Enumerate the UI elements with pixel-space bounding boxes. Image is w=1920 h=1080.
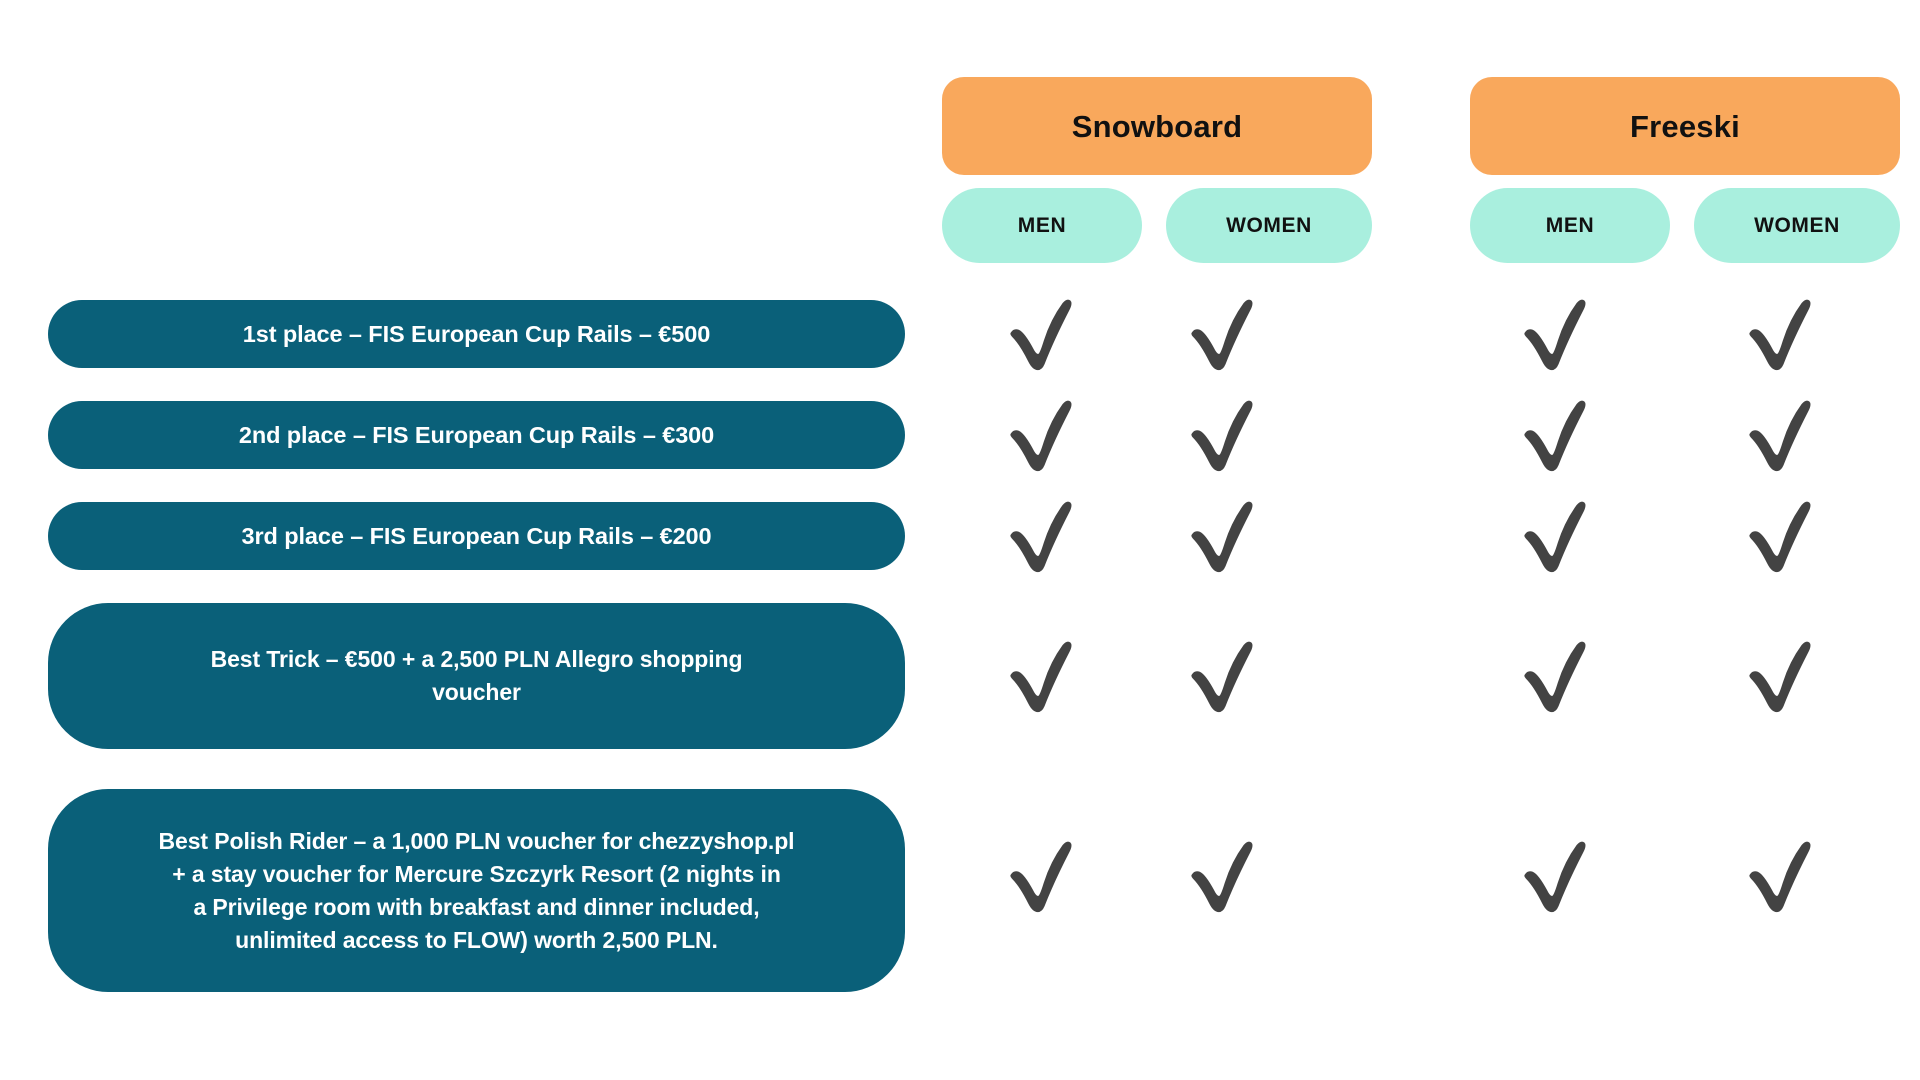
check-mark-icon	[1738, 392, 1824, 478]
gender-header-snowboard-men[interactable]: MEN	[942, 188, 1142, 263]
prize-row-label-4-text: Best Trick – €500 + a 2,500 PLN Allegro …	[211, 643, 743, 709]
check-cell-r5c1	[999, 833, 1085, 919]
check-mark-icon	[1738, 833, 1824, 919]
check-mark-icon	[1738, 291, 1824, 377]
check-cell-r1c2	[1180, 291, 1266, 377]
check-mark-icon	[1738, 633, 1824, 719]
check-cell-r4c1	[999, 633, 1085, 719]
check-cell-r3c3	[1513, 493, 1599, 579]
prize-matrix-board: Snowboard Freeski MEN WOMEN MEN WOMEN 1s…	[0, 0, 1920, 1080]
check-mark-icon	[999, 291, 1085, 377]
prize-row-label-2[interactable]: 2nd place – FIS European Cup Rails – €30…	[48, 401, 905, 469]
check-cell-r2c1	[999, 392, 1085, 478]
gender-header-freeski-men[interactable]: MEN	[1470, 188, 1670, 263]
check-mark-icon	[1738, 493, 1824, 579]
discipline-header-freeski-label: Freeski	[1630, 111, 1740, 142]
check-mark-icon	[1513, 833, 1599, 919]
check-mark-icon	[999, 633, 1085, 719]
gender-header-snowboard-men-label: MEN	[1018, 215, 1066, 236]
check-mark-icon	[1513, 392, 1599, 478]
discipline-header-snowboard-label: Snowboard	[1072, 111, 1243, 142]
prize-row-label-2-text: 2nd place – FIS European Cup Rails – €30…	[239, 419, 714, 452]
check-mark-icon	[999, 392, 1085, 478]
check-cell-r5c3	[1513, 833, 1599, 919]
prize-row-label-3-text: 3rd place – FIS European Cup Rails – €20…	[242, 520, 712, 553]
check-mark-icon	[1513, 493, 1599, 579]
prize-row-label-1-text: 1st place – FIS European Cup Rails – €50…	[243, 318, 710, 351]
check-mark-icon	[1513, 291, 1599, 377]
check-cell-r1c3	[1513, 291, 1599, 377]
check-mark-icon	[1180, 833, 1266, 919]
check-cell-r3c1	[999, 493, 1085, 579]
check-mark-icon	[1180, 633, 1266, 719]
check-cell-r4c4	[1738, 633, 1824, 719]
check-mark-icon	[1180, 392, 1266, 478]
discipline-header-snowboard[interactable]: Snowboard	[942, 77, 1372, 175]
check-mark-icon	[999, 493, 1085, 579]
gender-header-freeski-men-label: MEN	[1546, 215, 1594, 236]
check-mark-icon	[1513, 633, 1599, 719]
check-cell-r1c4	[1738, 291, 1824, 377]
prize-row-label-5-text: Best Polish Rider – a 1,000 PLN voucher …	[159, 825, 795, 957]
prize-row-label-4[interactable]: Best Trick – €500 + a 2,500 PLN Allegro …	[48, 603, 905, 749]
check-cell-r3c4	[1738, 493, 1824, 579]
gender-header-snowboard-women-label: WOMEN	[1226, 215, 1312, 236]
check-cell-r5c2	[1180, 833, 1266, 919]
prize-row-label-5[interactable]: Best Polish Rider – a 1,000 PLN voucher …	[48, 789, 905, 992]
check-cell-r1c1	[999, 291, 1085, 377]
check-mark-icon	[1180, 291, 1266, 377]
gender-header-freeski-women-label: WOMEN	[1754, 215, 1840, 236]
check-cell-r2c3	[1513, 392, 1599, 478]
check-mark-icon	[999, 833, 1085, 919]
check-mark-icon	[1180, 493, 1266, 579]
check-cell-r2c4	[1738, 392, 1824, 478]
prize-row-label-1[interactable]: 1st place – FIS European Cup Rails – €50…	[48, 300, 905, 368]
gender-header-freeski-women[interactable]: WOMEN	[1694, 188, 1900, 263]
check-cell-r3c2	[1180, 493, 1266, 579]
check-cell-r4c2	[1180, 633, 1266, 719]
check-cell-r2c2	[1180, 392, 1266, 478]
check-cell-r4c3	[1513, 633, 1599, 719]
discipline-header-freeski[interactable]: Freeski	[1470, 77, 1900, 175]
gender-header-snowboard-women[interactable]: WOMEN	[1166, 188, 1372, 263]
check-cell-r5c4	[1738, 833, 1824, 919]
prize-row-label-3[interactable]: 3rd place – FIS European Cup Rails – €20…	[48, 502, 905, 570]
